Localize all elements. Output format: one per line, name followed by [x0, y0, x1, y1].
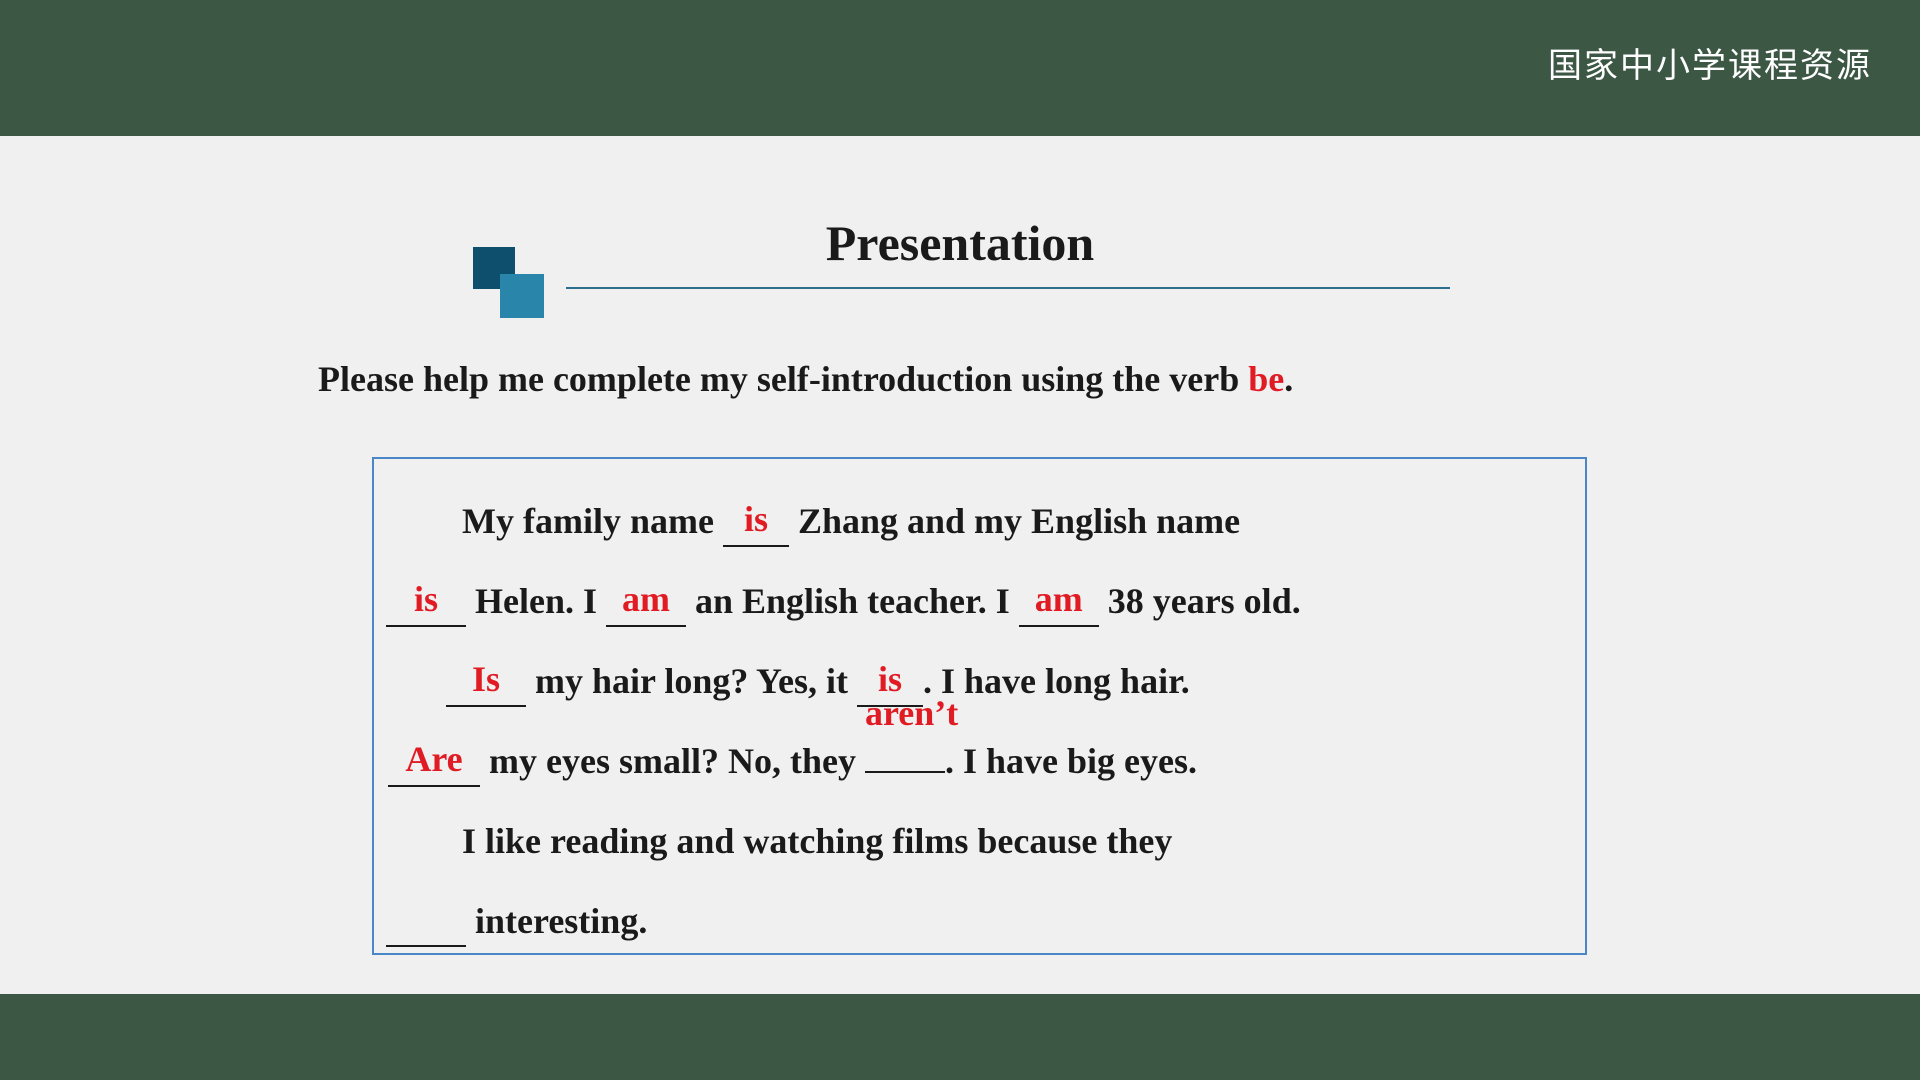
line-text: my hair long? Yes, it: [526, 661, 857, 701]
blank-answer[interactable]: [386, 901, 466, 947]
blank-answer[interactable]: aren’t: [865, 727, 945, 773]
exercise-lines: My family name is Zhang and my English n…: [374, 481, 1589, 961]
line-text: Zhang and my English name: [789, 501, 1240, 541]
line-text: My family name: [462, 501, 723, 541]
exercise-line: interesting.: [374, 881, 1589, 961]
title-underline: [566, 287, 1450, 289]
line-text: my eyes small? No, they: [480, 741, 865, 781]
decor-square-light-icon: [500, 274, 544, 318]
bottom-bar: [0, 994, 1920, 1080]
instruction-before: Please help me complete my self-introduc…: [318, 359, 1248, 399]
slide: 国家中小学课程资源 Presentation Please help me co…: [0, 0, 1920, 1080]
line-text: an English teacher. I: [686, 581, 1019, 621]
exercise-line: Are my eyes small? No, they aren’t. I ha…: [374, 721, 1589, 801]
blank-answer[interactable]: Is: [446, 661, 526, 707]
blank-answer[interactable]: Are: [388, 741, 480, 787]
blank-answer[interactable]: am: [606, 581, 686, 627]
blank-answer[interactable]: is: [386, 581, 466, 627]
exercise-panel: My family name is Zhang and my English n…: [372, 457, 1587, 955]
page-title: Presentation: [470, 215, 1450, 271]
line-text: interesting.: [466, 901, 647, 941]
instruction-text: Please help me complete my self-introduc…: [318, 358, 1293, 400]
instruction-keyword: be: [1248, 359, 1284, 399]
blank-answer[interactable]: am: [1019, 581, 1099, 627]
line-text: Helen. I: [466, 581, 606, 621]
title-block: Presentation: [470, 215, 1450, 295]
exercise-line: is Helen. I am an English teacher. I am …: [374, 561, 1589, 641]
exercise-line: I like reading and watching films becaus…: [374, 801, 1589, 881]
instruction-after: .: [1284, 359, 1293, 399]
line-text: . I have long hair.: [923, 661, 1190, 701]
line-text: 38 years old.: [1099, 581, 1301, 621]
exercise-line: My family name is Zhang and my English n…: [374, 481, 1589, 561]
line-text: . I have big eyes.: [945, 741, 1197, 781]
brand-label: 国家中小学课程资源: [1548, 38, 1872, 87]
exercise-line: Is my hair long? Yes, it is. I have long…: [374, 641, 1589, 721]
line-text: I like reading and watching films becaus…: [462, 821, 1172, 861]
top-bar: 国家中小学课程资源: [0, 0, 1920, 136]
blank-answer[interactable]: is: [723, 501, 789, 547]
